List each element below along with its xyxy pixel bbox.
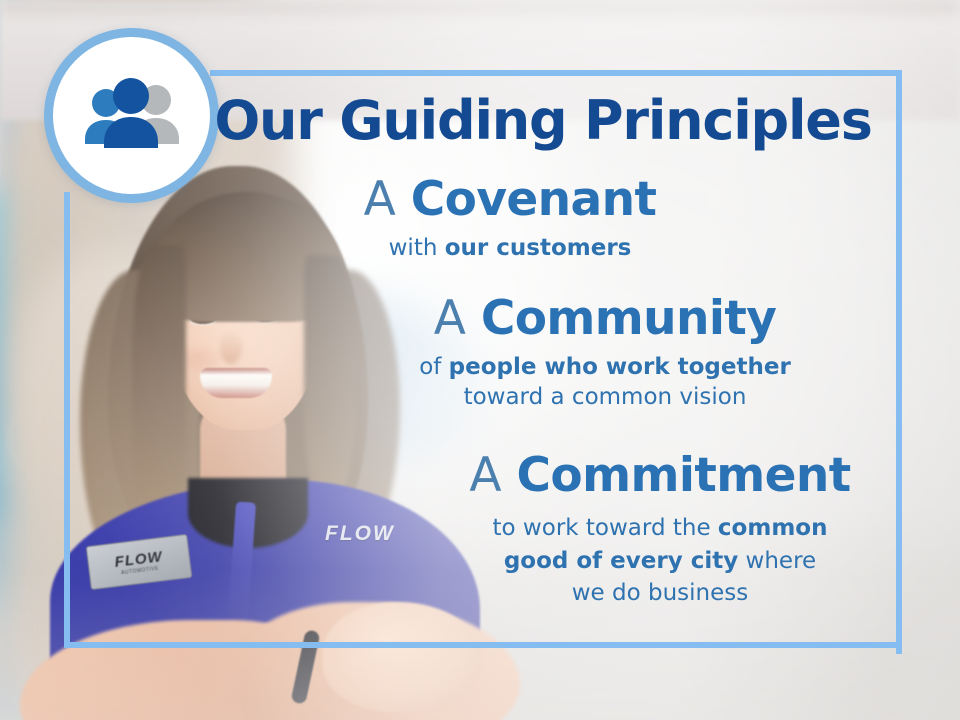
principle-commitment-subtitle: to work toward the commongood of every c…: [430, 512, 890, 610]
principle-covenant-keyword: Covenant: [411, 172, 657, 227]
banner-canvas: FLOW FLOW AUTOMOTIVE Our Guiding Princip…: [0, 0, 960, 720]
principle-community-article: A: [434, 291, 466, 346]
principle-covenant: A Covenant with our customers: [310, 176, 710, 263]
principle-community-heading: A Community: [370, 295, 840, 343]
principle-community: A Community of people who work togethert…: [370, 295, 840, 413]
principle-commitment-keyword: Commitment: [517, 448, 851, 503]
principle-community-keyword: Community: [481, 291, 776, 346]
people-group-badge: [44, 28, 219, 203]
principle-covenant-subtitle: with our customers: [310, 233, 710, 263]
principle-covenant-article: A: [364, 172, 396, 227]
principle-commitment-heading: A Commitment: [430, 452, 890, 500]
principle-commitment: A Commitment to work toward the commongo…: [430, 452, 890, 610]
principle-community-subtitle: of people who work togethertoward a comm…: [370, 352, 840, 413]
people-group-icon: [76, 76, 188, 156]
principle-commitment-article: A: [469, 448, 501, 503]
principle-covenant-heading: A Covenant: [310, 176, 710, 224]
page-title: Our Guiding Principles: [213, 94, 873, 148]
